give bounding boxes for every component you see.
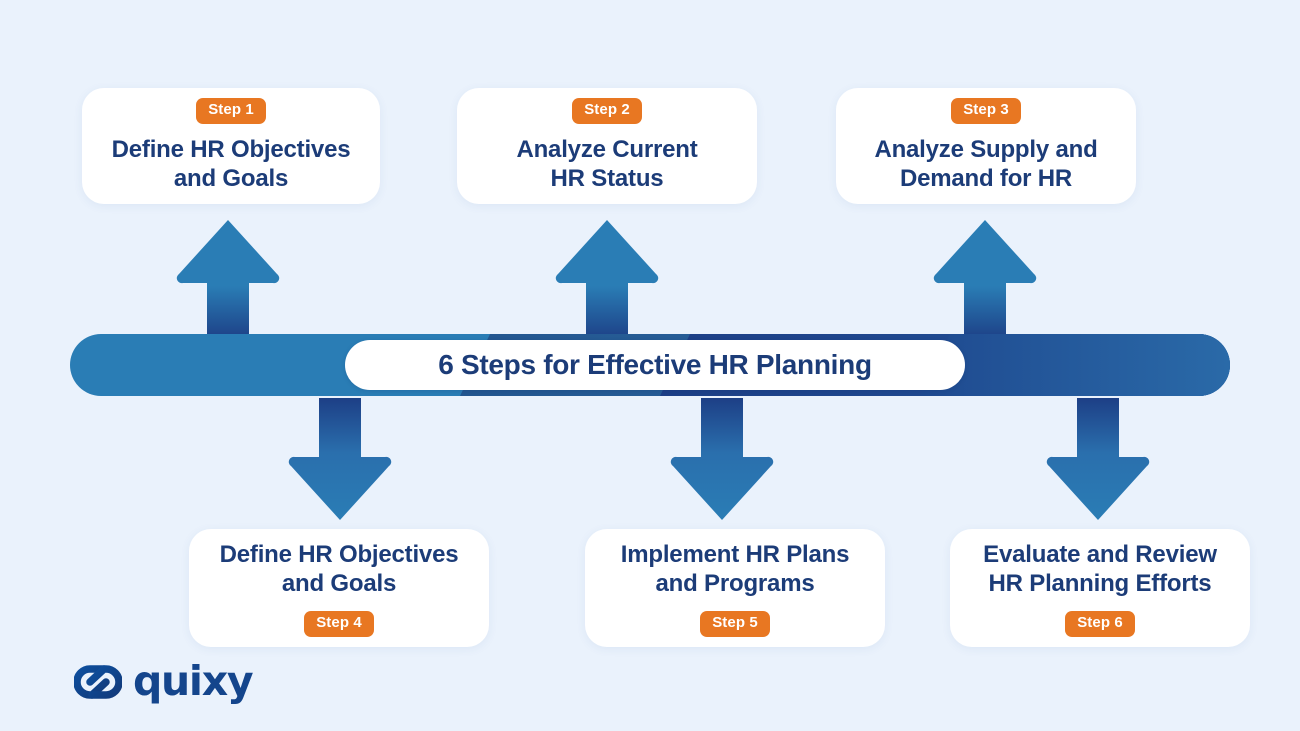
- step-badge-2: Step 2: [572, 98, 642, 124]
- step-title-5: Implement HR Plans and Programs: [621, 540, 849, 600]
- step-card-5: Implement HR Plans and Programs Step 5: [585, 529, 885, 647]
- arrow-up-icon-3: [932, 218, 1038, 340]
- step-card-4: Define HR Objectives and Goals Step 4: [189, 529, 489, 647]
- quixy-infinity-loop-logo-icon: [74, 662, 122, 702]
- step-card-3: Step 3 Analyze Supply and Demand for HR: [836, 88, 1136, 204]
- step-card-2: Step 2 Analyze Current HR Status: [457, 88, 757, 204]
- step-card-6: Evaluate and Review HR Planning Efforts …: [950, 529, 1250, 647]
- step-badge-6: Step 6: [1065, 611, 1135, 637]
- arrow-down-icon-1: [287, 398, 393, 522]
- banner: 6 Steps for Effective HR Planning: [70, 334, 1230, 396]
- step-title-1: Define HR Objectives and Goals: [112, 135, 351, 195]
- banner-title: 6 Steps for Effective HR Planning: [438, 351, 872, 379]
- step-badge-1: Step 1: [196, 98, 266, 124]
- quixy-wordmark: quixy: [133, 661, 252, 702]
- step-badge-3: Step 3: [951, 98, 1021, 124]
- step-title-2: Analyze Current HR Status: [516, 135, 697, 195]
- banner-title-pill: 6 Steps for Effective HR Planning: [345, 340, 965, 390]
- step-title-4: Define HR Objectives and Goals: [220, 540, 459, 600]
- arrow-down-icon-2: [669, 398, 775, 522]
- step-badge-4: Step 4: [304, 611, 374, 637]
- step-title-6: Evaluate and Review HR Planning Efforts: [983, 540, 1217, 600]
- arrow-up-icon-1: [175, 218, 281, 340]
- quixy-logo: quixy: [74, 661, 252, 702]
- step-title-3: Analyze Supply and Demand for HR: [874, 135, 1097, 195]
- arrow-up-icon-2: [554, 218, 660, 340]
- step-badge-5: Step 5: [700, 611, 770, 637]
- step-card-1: Step 1 Define HR Objectives and Goals: [82, 88, 380, 204]
- arrow-down-icon-3: [1045, 398, 1151, 522]
- hr-planning-infographic: Step 1 Define HR Objectives and Goals St…: [0, 0, 1300, 731]
